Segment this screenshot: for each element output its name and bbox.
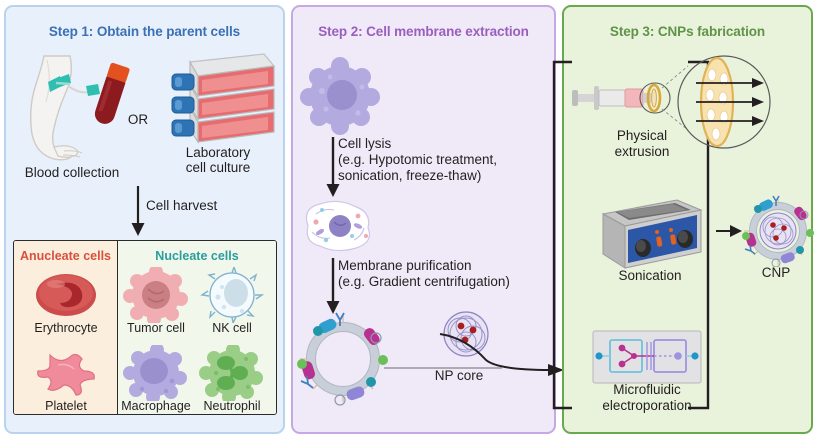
cell-name: Erythrocyte xyxy=(26,321,106,335)
sonication-label: Sonication xyxy=(600,268,700,283)
cnp-icon xyxy=(742,195,814,267)
cell-harvest-label: Cell harvest xyxy=(146,198,242,213)
nk-cell-icon xyxy=(192,267,272,323)
cell-lysis-label: Cell lysis (e.g. Hypotomic treatment, so… xyxy=(338,136,548,184)
nucleate-cells-heading: Nucleate cells xyxy=(118,249,276,263)
blood-collection-label: Blood collection xyxy=(2,165,142,180)
neutrophil-icon xyxy=(192,345,272,401)
arm-blood-draw-icon xyxy=(14,52,136,162)
step-1-title: Step 1: Obtain the parent cells xyxy=(6,24,283,39)
cell-name: Tumor cell xyxy=(116,321,196,335)
step-2-title: Step 2: Cell membrane extraction xyxy=(293,24,554,39)
platelet-icon xyxy=(26,345,106,401)
tumor-cell-icon xyxy=(116,267,196,323)
np-core-to-step3-arrow-icon xyxy=(382,330,572,390)
membrane-purification-label: Membrane purification (e.g. Gradient cen… xyxy=(338,258,550,290)
cnp-label: CNP xyxy=(742,265,810,280)
erythrocyte-icon xyxy=(26,267,106,323)
cell-name: Neutrophil xyxy=(192,399,272,413)
cnp-arrow-icon xyxy=(716,222,744,240)
cell-harvest-arrow-icon xyxy=(128,186,148,238)
diagram-canvas: Step 1: Obtain the parent cells OR xyxy=(0,0,817,439)
cell-item-platelet: Platelet xyxy=(26,345,106,413)
intact-cell-icon xyxy=(300,55,380,137)
parent-cell-types-table: Anucleate cells Erythrocyte xyxy=(13,240,277,415)
cell-name: Platelet xyxy=(26,399,106,413)
nucleate-cells-column: Nucleate cells Tumor xyxy=(118,241,276,414)
or-connector-label: OR xyxy=(118,112,158,127)
macrophage-icon xyxy=(116,345,196,401)
extrusion-pore-magnifier-icon xyxy=(672,50,776,154)
lab-culture-label: Laboratory cell culture xyxy=(155,145,281,175)
cell-name: NK cell xyxy=(192,321,272,335)
lysed-cell-icon xyxy=(296,196,380,256)
cell-item-tumor-cell: Tumor cell xyxy=(116,267,196,335)
step-3-title: Step 3: CNPs fabrication xyxy=(564,24,811,39)
anucleate-cells-column: Anucleate cells Erythrocyte xyxy=(14,241,118,414)
cell-item-erythrocyte: Erythrocyte xyxy=(26,267,106,335)
cell-item-nk-cell: NK cell xyxy=(192,267,272,335)
microfluidic-chip-icon xyxy=(592,330,702,384)
cell-culture-flask-icon xyxy=(168,52,278,152)
cell-item-macrophage: Macrophage xyxy=(116,345,196,413)
cell-item-neutrophil: Neutrophil xyxy=(192,345,272,413)
sonicator-bath-icon xyxy=(595,196,705,274)
anucleate-cells-heading: Anucleate cells xyxy=(14,249,117,263)
microfluidic-electroporation-label: Microfluidic electroporation xyxy=(580,382,714,414)
cell-name: Macrophage xyxy=(116,399,196,413)
membrane-vesicle-icon xyxy=(296,312,390,406)
